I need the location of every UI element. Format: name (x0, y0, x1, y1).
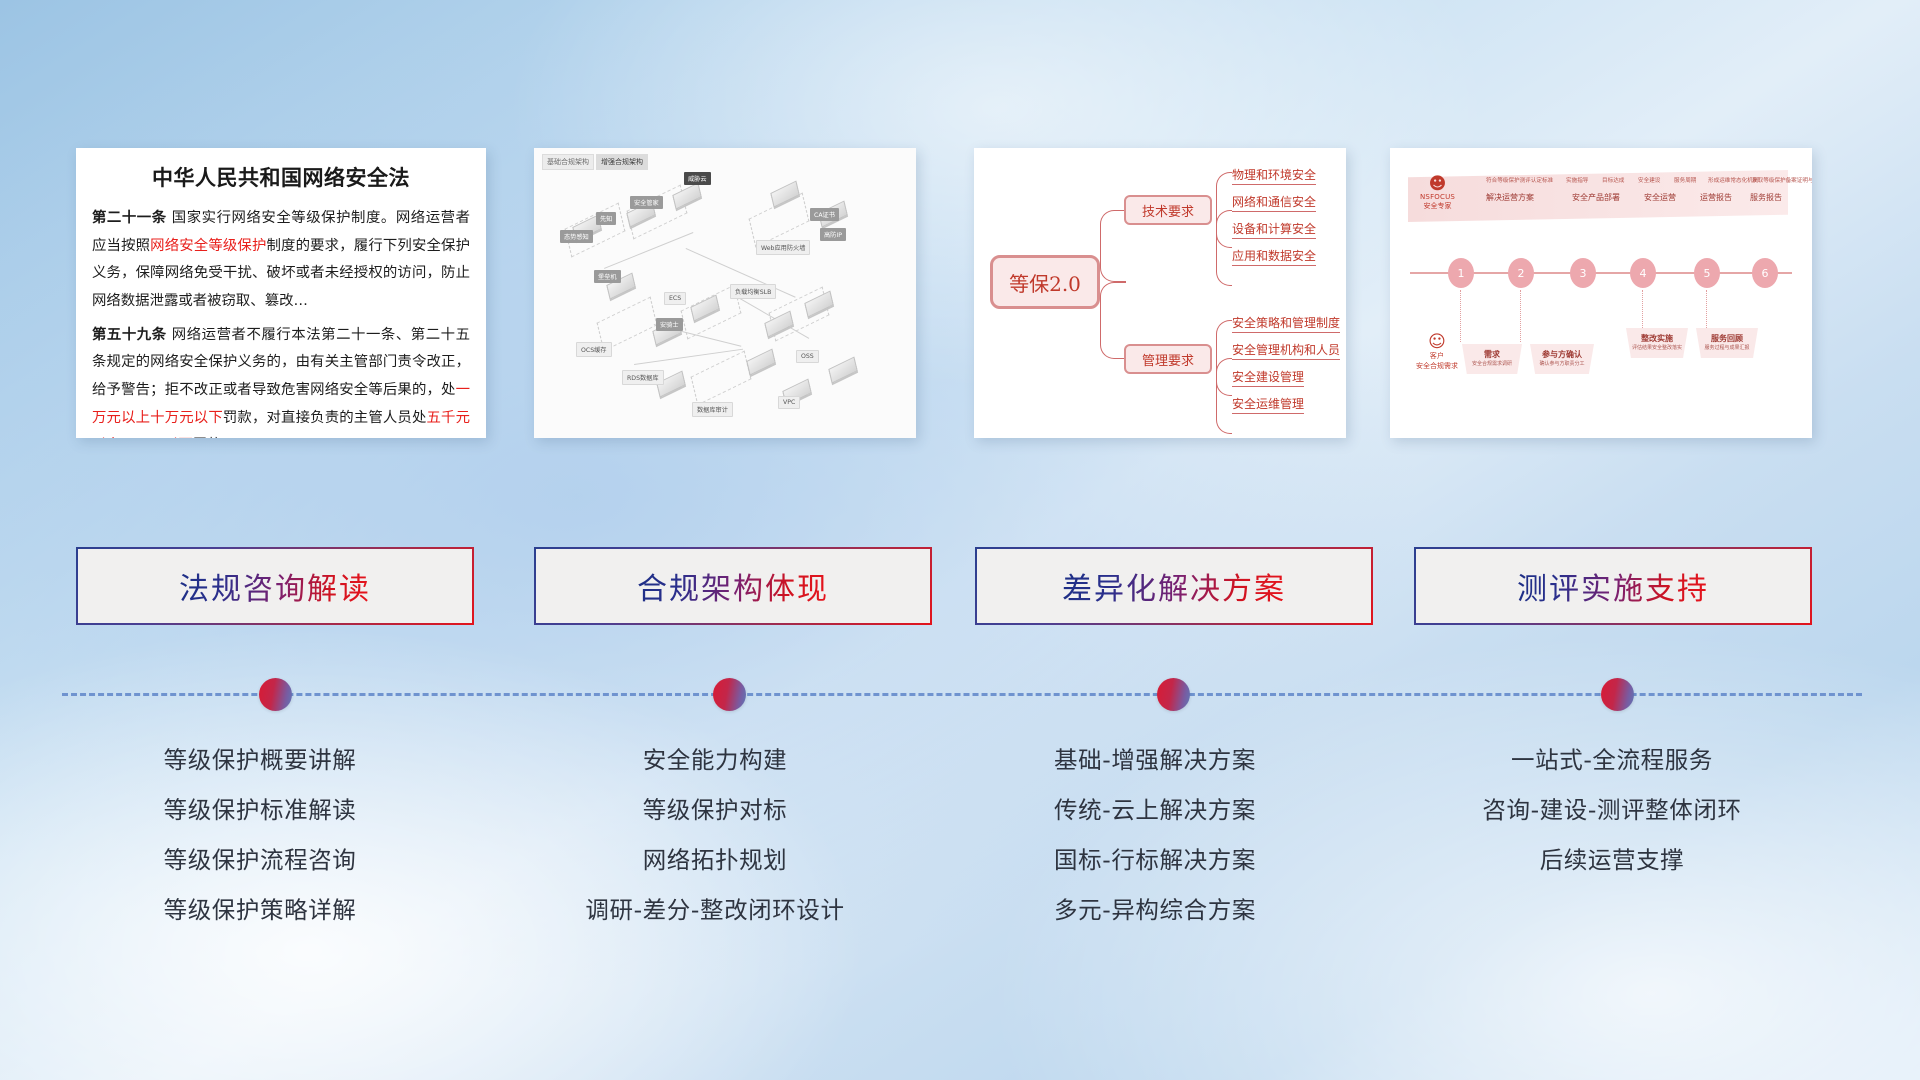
detail-list-regulation: 等级保护概要讲解 等级保护标准解读 等级保护流程咨询 等级保护策略详解 (60, 735, 460, 935)
diagram-label-ca-cert: CA证书 (810, 208, 839, 221)
client-line-2: 安全合规需求 (1416, 361, 1458, 371)
banner-assessment-support[interactable]: 测评实施支持 (1414, 547, 1812, 625)
list-item: 调研-差分-整改闭环设计 (515, 885, 915, 935)
slide-canvas: 中华人民共和国网络安全法 第二十一条 国家实行网络安全等级保护制度。网络运营者应… (0, 0, 1920, 1080)
banner-label: 差异化解决方案 (1062, 564, 1286, 608)
list-item: 国标-行标解决方案 (955, 835, 1355, 885)
diagram-tab-bar[interactable]: 基础合规架构 增强合规架构 (542, 154, 648, 170)
mindmap-connector (1100, 210, 1126, 282)
roadmap-chip-review: 服务回顾 服务过程与成果汇报 (1696, 328, 1758, 358)
article-21-highlight: 网络安全等级保护 (150, 238, 266, 254)
diagram-node-box (828, 356, 857, 383)
roadmap-step-1: 1 (1448, 258, 1474, 288)
chip-heading: 需求 (1462, 349, 1522, 360)
chip-heading: 整改实施 (1626, 333, 1688, 344)
list-item: 一站式-全流程服务 (1412, 735, 1812, 785)
timeline-dashed-line (62, 693, 1862, 696)
article-59-seg-2: 罚款，对直接负责的主管人员处 (223, 410, 427, 426)
mindmap-leaf-policy-system: 安全策略和管理制度 (1232, 314, 1340, 333)
mindmap-branch-management: 管理要求 (1124, 344, 1212, 374)
roadmap-top-label: 形成运维常态化机制 (1708, 176, 1758, 184)
diagram-link (604, 232, 693, 269)
roadmap-dotted-link (1642, 290, 1643, 330)
mindmap: 等保2.0 技术要求 物理和环境安全 网络和通信安全 设备和计算安全 应用和数据… (974, 148, 1346, 438)
tab-basic-architecture[interactable]: 基础合规架构 (542, 154, 594, 170)
tab-enhanced-architecture[interactable]: 增强合规架构 (596, 154, 648, 170)
law-article-21: 第二十一条 国家实行网络安全等级保护制度。网络运营者应当按照网络安全等级保护制度… (92, 205, 470, 316)
mindmap-leaf-physical-env: 物理和环境安全 (1232, 166, 1316, 185)
client-line-1: 客户 (1416, 351, 1458, 361)
chip-sub: 服务过程与成果汇报 (1696, 344, 1758, 351)
list-item: 咨询-建设-测评整体闭环 (1412, 785, 1812, 835)
diagram-plate (691, 350, 752, 405)
dengbao-mindmap-card[interactable]: 等保2.0 技术要求 物理和环境安全 网络和通信安全 设备和计算安全 应用和数据… (974, 148, 1346, 438)
law-body: 中华人民共和国网络安全法 第二十一条 国家实行网络安全等级保护制度。网络运营者应… (76, 148, 486, 438)
banner-label: 合规架构体现 (637, 564, 829, 608)
banner-compliance-architecture[interactable]: 合规架构体现 (534, 547, 932, 625)
diagram-label-waf: Web应用防火墙 (756, 240, 810, 255)
mindmap-connector (1100, 282, 1126, 359)
roadmap-top-label: 目标达成 (1602, 176, 1624, 184)
roadmap-phase-label: 安全产品部署 (1572, 192, 1620, 203)
article-59-seg-3: 罚款。 (193, 437, 236, 438)
list-item: 传统-云上解决方案 (955, 785, 1355, 835)
mindmap-connector (1216, 358, 1232, 434)
chip-heading: 服务回顾 (1696, 333, 1758, 344)
timeline-dot-4[interactable] (1601, 678, 1634, 711)
roadmap-chip-participants: 参与方确认 确认参与方职责分工 (1530, 344, 1594, 374)
roadmap-chip-rectification: 整改实施 评估结果安全整改落实 (1626, 328, 1688, 358)
diagram-label-anti-ddos-ip: 高防IP (820, 228, 846, 241)
timeline-dot-1[interactable] (259, 678, 292, 711)
list-item: 等级保护概要讲解 (60, 735, 460, 785)
mindmap-leaf-network-comm: 网络和通信安全 (1232, 193, 1316, 212)
diagram-label-slb: 负载均衡SLB (730, 284, 776, 299)
detail-list-solution: 基础-增强解决方案 传统-云上解决方案 国标-行标解决方案 多元-异构综合方案 (955, 735, 1355, 935)
diagram-label-bastion-host: 堡垒机 (594, 270, 621, 283)
expert-line-2: 安全专家 (1420, 201, 1455, 211)
diagram-label-ecs: ECS (664, 292, 686, 305)
expert-line-1: NSFOCUS (1420, 193, 1455, 201)
list-item: 等级保护策略详解 (60, 885, 460, 935)
thumbnail-card-row: 中华人民共和国网络安全法 第二十一条 国家实行网络安全等级保护制度。网络运营者应… (0, 0, 1920, 440)
diagram-label-rds: RDS数据库 (622, 370, 664, 385)
mindmap-root-node: 等保2.0 (990, 255, 1100, 309)
banner-regulation-consulting[interactable]: 法规咨询解读 (76, 547, 474, 625)
timeline-dot-2[interactable] (713, 678, 746, 711)
timeline-dot-3[interactable] (1157, 678, 1190, 711)
person-check-icon: ☺ (1416, 334, 1458, 351)
roadmap-top-label: 安全建设 (1638, 176, 1660, 184)
roadmap-step-4: 4 (1630, 258, 1656, 288)
diagram-label-security-butler: 安全管家 (630, 196, 663, 209)
roadmap-infographic: ☻ NSFOCUS 安全专家 符合等级保护测评认定标准 实施指导 目标达成 安全… (1390, 148, 1812, 438)
mindmap-branch-technical: 技术要求 (1124, 195, 1212, 225)
roadmap-phase-label: 运营报告 (1700, 192, 1732, 203)
banner-differentiated-solution[interactable]: 差异化解决方案 (975, 547, 1373, 625)
banner-label: 法规咨询解读 (179, 564, 371, 608)
diagram-label-xianzhi: 先知 (596, 212, 616, 225)
chip-heading: 参与方确认 (1530, 349, 1594, 360)
roadmap-step-5: 5 (1694, 258, 1720, 288)
diagram-label-situational-awareness: 态势感知 (560, 230, 593, 243)
roadmap-phase-label: 服务报告 (1750, 192, 1782, 203)
mindmap-leaf-org-personnel: 安全管理机构和人员 (1232, 341, 1340, 360)
mindmap-leaf-device-compute: 设备和计算安全 (1232, 220, 1316, 239)
detail-list-assessment: 一站式-全流程服务 咨询-建设-测评整体闭环 后续运营支撑 (1412, 735, 1812, 885)
mindmap-leaf-app-data: 应用和数据安全 (1232, 247, 1316, 266)
client-block: ☺ 客户 安全合规需求 (1416, 334, 1458, 371)
diagram-label-vpc: VPC (778, 396, 800, 409)
diagram-label-oss: OSS (796, 350, 819, 363)
roadmap-step-3: 3 (1570, 258, 1596, 288)
roadmap-step-2: 2 (1508, 258, 1534, 288)
roadmap-top-label: 服务周期 (1674, 176, 1696, 184)
person-star-icon: ☻ (1420, 176, 1455, 193)
chip-sub: 确认参与方职责分工 (1530, 360, 1594, 367)
nsfocus-expert-block: ☻ NSFOCUS 安全专家 (1420, 176, 1455, 211)
law-article-59: 第五十九条 网络运营者不履行本法第二十一条、第二十五条规定的网络安全保护义务的，… (92, 322, 470, 438)
roadmap-phase-label: 安全运营 (1644, 192, 1676, 203)
list-item: 后续运营支撑 (1412, 835, 1812, 885)
roadmap-phase-label: 解决运营方案 (1486, 192, 1534, 203)
mindmap-leaf-ops-mgmt: 安全运维管理 (1232, 395, 1304, 414)
detail-list-architecture: 安全能力构建 等级保护对标 网络拓扑规划 调研-差分-整改闭环设计 (515, 735, 915, 935)
diagram-label-anqishi: 安骑士 (656, 318, 683, 331)
roadmap-top-label: 符合等级保护测评认定标准 (1486, 176, 1553, 184)
diagram-label-db-audit: 数据库审计 (692, 402, 733, 417)
diagram-label-ocs-cache: OCS缓存 (576, 342, 612, 357)
list-item: 网络拓扑规划 (515, 835, 915, 885)
roadmap-top-label: 获取等级保护备案证明与测评报告 (1752, 176, 1812, 184)
diagram-label-threat-cloud: 威胁云 (684, 172, 711, 185)
assessment-roadmap-card[interactable]: ☻ NSFOCUS 安全专家 符合等级保护测评认定标准 实施指导 目标达成 安全… (1390, 148, 1812, 438)
list-item: 等级保护对标 (515, 785, 915, 835)
diagram-node-box (746, 348, 775, 375)
mindmap-leaf-construction-mgmt: 安全建设管理 (1232, 368, 1304, 387)
roadmap-chip-demand: 需求 安全合规需求调研 (1462, 344, 1522, 374)
chip-sub: 安全合规需求调研 (1462, 360, 1522, 367)
compliance-architecture-card[interactable]: 基础合规架构 增强合规架构 (534, 148, 916, 438)
article-21-label: 第二十一条 (92, 210, 167, 226)
roadmap-top-label: 实施指导 (1566, 176, 1588, 184)
list-item: 多元-异构综合方案 (955, 885, 1355, 935)
list-item: 基础-增强解决方案 (955, 735, 1355, 785)
article-59-label: 第五十九条 (92, 327, 167, 343)
roadmap-dotted-link (1706, 290, 1707, 330)
roadmap-dotted-link (1460, 290, 1461, 342)
list-item: 等级保护标准解读 (60, 785, 460, 835)
roadmap-step-6: 6 (1752, 258, 1778, 288)
mindmap-connector (1216, 210, 1232, 286)
network-diagram: 基础合规架构 增强合规架构 (534, 148, 916, 438)
list-item: 安全能力构建 (515, 735, 915, 785)
law-excerpt-card[interactable]: 中华人民共和国网络安全法 第二十一条 国家实行网络安全等级保护制度。网络运营者应… (76, 148, 486, 438)
law-title: 中华人民共和国网络安全法 (92, 162, 470, 192)
banner-label: 测评实施支持 (1517, 564, 1709, 608)
list-item: 等级保护流程咨询 (60, 835, 460, 885)
chip-sub: 评估结果安全整改落实 (1626, 344, 1688, 351)
roadmap-dotted-link (1520, 290, 1521, 342)
